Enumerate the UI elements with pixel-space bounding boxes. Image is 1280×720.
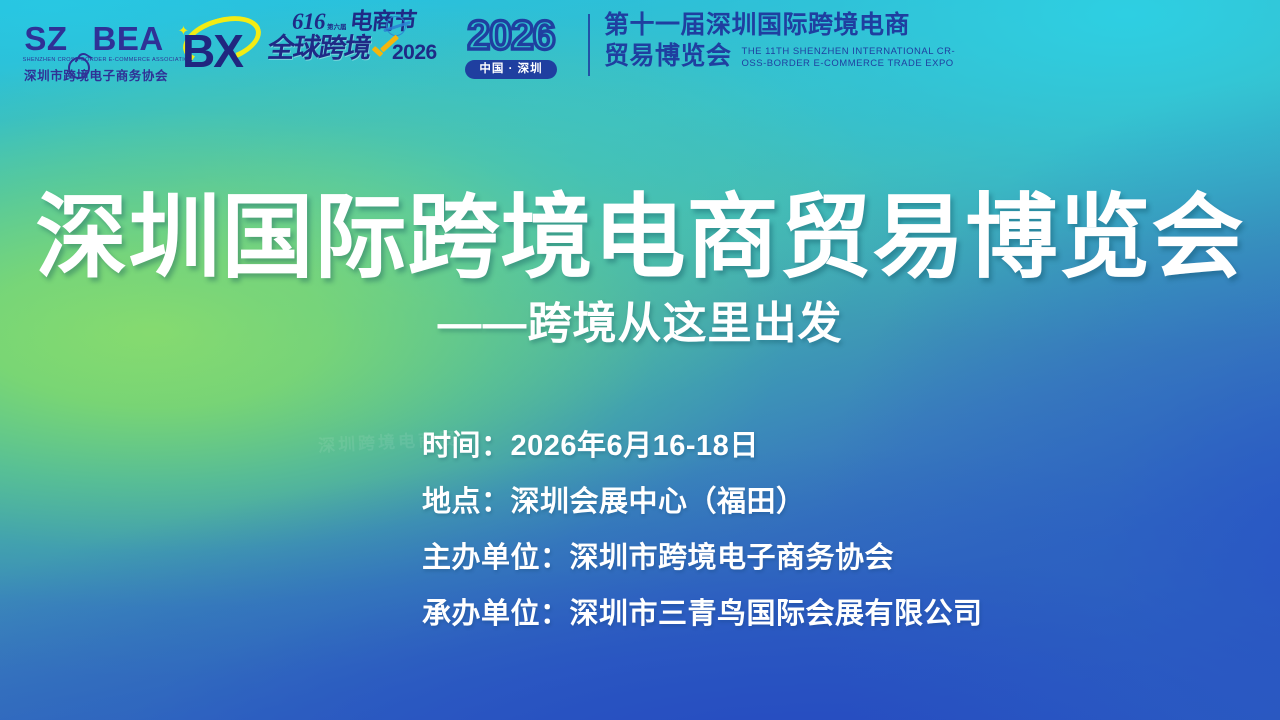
expo-title-english-line1: THE 11TH SHENZHEN INTERNATIONAL CR-: [742, 46, 956, 57]
festival-year-label: 2026: [392, 42, 437, 63]
event-info-organizer: 主办单位：深圳市跨境电子商务协会: [422, 530, 1182, 586]
festival-616-logo: 616 第六届 电商节 全球跨境 2026: [268, 8, 436, 82]
page-title: 深圳国际跨境电商贸易博览会: [0, 186, 1280, 290]
festival-edition-label: 第六届: [327, 24, 347, 31]
expo-poster: SZBEA SHENZHEN CROSS-BORDER E-COMMERCE A…: [0, 0, 1280, 720]
szcbea-chinese-name: 深圳市跨境电子商务协会: [24, 65, 164, 84]
event-info-date: 时间：2026年6月16-18日: [422, 418, 1182, 474]
expo-official-title: 第十一届深圳国际跨境电商 贸易博览会 THE 11TH SHENZHEN INT…: [604, 10, 1144, 72]
festival-globe-icon: [386, 16, 406, 36]
festival-global-crossborder-label: 全球跨境: [266, 34, 372, 62]
szcbea-wordmark-part1: SZ: [24, 20, 67, 57]
expo-title-english-line2: OSS-BORDER E-COMMERCE TRADE EXPO: [742, 58, 954, 69]
szcbea-association-logo: SZBEA SHENZHEN CROSS-BORDER E-COMMERCE A…: [24, 22, 164, 84]
event-info-co-organizer: 承办单位：深圳市三青鸟国际会展有限公司: [422, 586, 1182, 642]
year-badge-location-pill: 中国 · 深圳: [465, 60, 557, 79]
bx-wordmark: BX: [182, 28, 242, 74]
szcbea-english-name: SHENZHEN CROSS-BORDER E-COMMERCE ASSOCIA…: [23, 57, 166, 63]
expo-title-line1: 第十一届深圳国际跨境电商: [604, 10, 1144, 41]
expo-title-line2: 贸易博览会: [604, 41, 732, 72]
expo-title-row2: 贸易博览会 THE 11TH SHENZHEN INTERNATIONAL CR…: [604, 41, 1144, 72]
header-logo-strip: SZBEA SHENZHEN CROSS-BORDER E-COMMERCE A…: [0, 0, 1280, 92]
bx-logo: ✦ BX: [176, 12, 264, 78]
event-info-block: 时间：2026年6月16-18日 地点：深圳会展中心（福田） 主办单位：深圳市跨…: [422, 418, 1182, 642]
szcbea-wordmark: SZBEA: [24, 22, 164, 56]
szcbea-wordmark-part2: BEA: [92, 20, 163, 57]
year-badge: 2026 中国 · 深圳: [452, 14, 570, 78]
festival-logo-bottom-row: 全球跨境: [268, 34, 370, 62]
festival-616-number: 616: [292, 10, 325, 33]
header-divider: [588, 14, 590, 76]
year-badge-number: 2026: [452, 14, 570, 56]
event-info-venue: 地点：深圳会展中心（福田）: [422, 474, 1182, 530]
expo-title-english: THE 11TH SHENZHEN INTERNATIONAL CR-OSS-B…: [742, 46, 956, 70]
page-subtitle: ——跨境从这里出发: [0, 296, 1280, 352]
